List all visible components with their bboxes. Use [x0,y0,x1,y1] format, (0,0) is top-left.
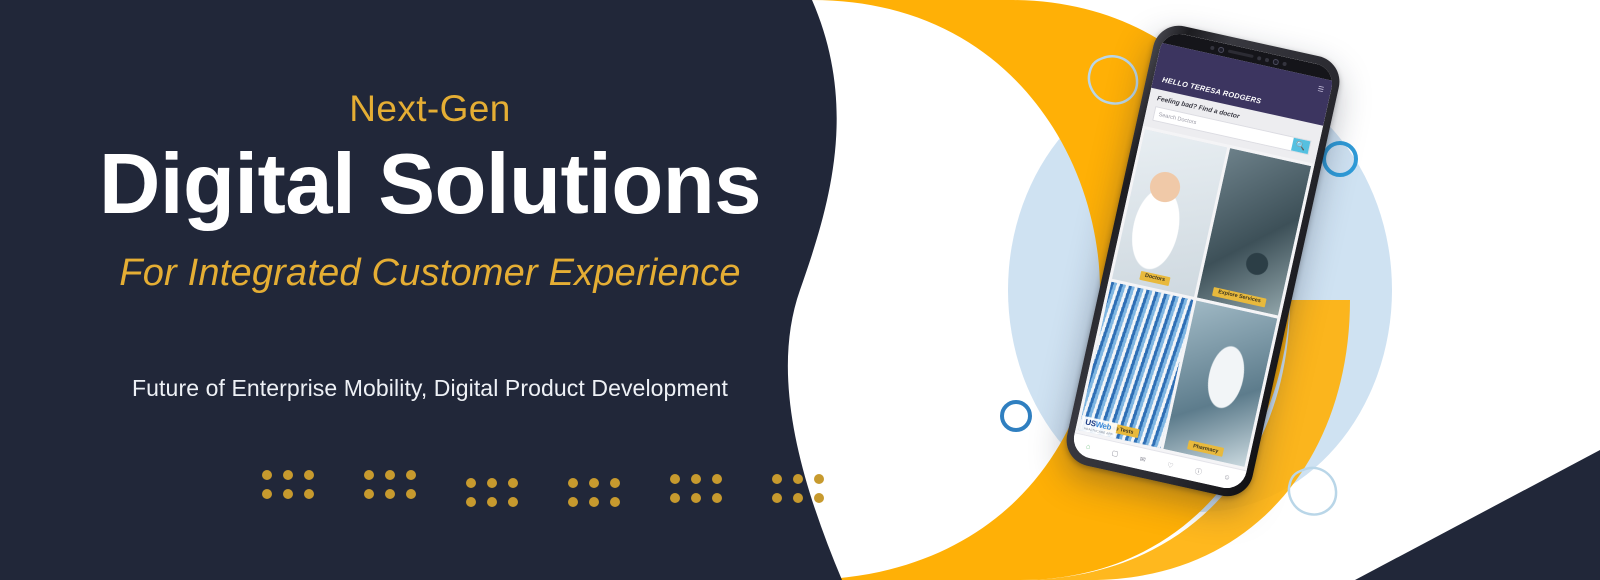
sensor-icon [1282,61,1287,66]
sensor-icon [1257,55,1262,60]
dot [814,474,824,484]
dot [466,478,476,488]
info-icon[interactable]: ⓘ [1194,466,1203,477]
page-title: Digital Solutions [0,140,860,229]
dot [262,470,272,480]
front-camera-icon [1218,46,1225,53]
iris-scanner-icon [1272,58,1279,65]
dot [487,478,497,488]
profile-icon[interactable]: ☺ [1223,474,1232,482]
dot [568,497,578,507]
dot [283,489,293,499]
dot-group [772,474,824,507]
dot [589,478,599,488]
dot [712,474,722,484]
dot [793,474,803,484]
dot [508,478,518,488]
eyebrow-text: Next-Gen [0,88,860,130]
dot [385,470,395,480]
sensor-icon [1210,45,1215,50]
phone-mockup: HELLO TERESA RODGERS ☰ Feeling bad? Find… [1020,10,1400,550]
dot [793,493,803,503]
dot [670,474,680,484]
dot [385,489,395,499]
dot-group [670,474,722,507]
sensor-icon [1265,57,1270,62]
dot [262,489,272,499]
phone-screen: HELLO TERESA RODGERS ☰ Feeling bad? Find… [1070,30,1336,492]
dot-pattern-decoration [262,470,824,507]
dot [568,478,578,488]
earpiece-speaker [1228,49,1254,58]
smartphone-device: HELLO TERESA RODGERS ☰ Feeling bad? Find… [1062,21,1345,501]
dot [283,470,293,480]
subheadline-text: For Integrated Customer Experience [0,252,860,295]
dot-group [262,470,314,507]
dot [610,497,620,507]
dot [610,478,620,488]
dot [304,470,314,480]
dot-group [364,470,416,507]
dot [364,470,374,480]
home-icon[interactable]: ⌂ [1085,443,1091,451]
dot [508,497,518,507]
dot-group [568,478,620,507]
heart-icon[interactable]: ♡ [1166,461,1174,470]
chat-icon[interactable]: ✉ [1139,455,1146,464]
tagline-text: Future of Enterprise Mobility, Digital P… [0,375,860,402]
dot [712,493,722,503]
hero-banner: Next-Gen Digital Solutions For Integrate… [0,0,1600,580]
dot [466,497,476,507]
dot [670,493,680,503]
service-card-grid: Doctors Explore Services Lab Tests [1075,126,1315,471]
search-icon[interactable]: 🔍 [1291,138,1310,154]
phone-body: HELLO TERESA RODGERS ☰ Feeling bad? Find… [1062,21,1345,501]
dot [691,474,701,484]
dot [772,474,782,484]
dot [589,497,599,507]
dot [691,493,701,503]
dot [406,489,416,499]
notification-icon[interactable]: ☰ [1317,85,1325,94]
calendar-icon[interactable]: ▢ [1111,448,1119,457]
dot-group [466,478,518,507]
dot [814,493,824,503]
dot [772,493,782,503]
dot [487,497,497,507]
dot [304,489,314,499]
dot [364,489,374,499]
dot [406,470,416,480]
